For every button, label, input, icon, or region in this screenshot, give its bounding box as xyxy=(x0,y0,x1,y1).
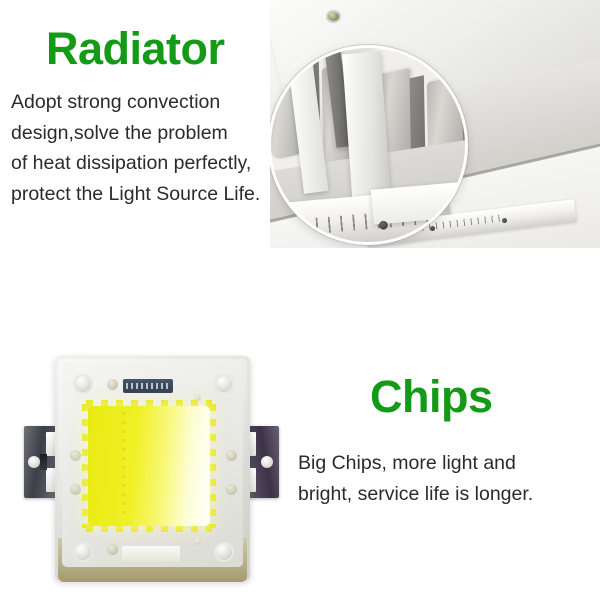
chip-bottom-slot xyxy=(122,546,180,562)
chip-vent-hole xyxy=(107,379,118,390)
chip-vent-hole xyxy=(70,450,81,461)
caliper-rivet xyxy=(379,221,388,230)
terminal-screw-hole xyxy=(261,456,273,468)
chips-description: Big Chips, more light and bright, servic… xyxy=(298,448,598,509)
led-cob-chip-photo xyxy=(10,348,295,600)
chip-vent-hole xyxy=(107,544,118,555)
housing-screw xyxy=(328,12,339,21)
chip-vent-hole xyxy=(226,450,237,461)
caliper-rivet xyxy=(295,231,304,240)
chip-pin-hole xyxy=(194,538,201,545)
caliper-rivet xyxy=(502,218,507,223)
phosphor-emitting-area xyxy=(88,406,210,526)
chip-vent-hole xyxy=(70,484,81,495)
product-feature-page: Radiator Adopt strong convection design,… xyxy=(0,0,600,600)
chip-vent-hole xyxy=(226,484,237,495)
chip-mounting-hole xyxy=(73,542,93,562)
chip-marking-label xyxy=(123,379,173,393)
terminal-bar xyxy=(40,454,47,470)
chip-mounting-hole xyxy=(73,374,93,394)
radiator-description: Adopt strong convection design,solve the… xyxy=(11,87,301,209)
chip-mounting-hole xyxy=(214,542,234,562)
led-floodlight-heatsink-photo xyxy=(270,0,600,248)
radiator-heading: Radiator xyxy=(46,26,225,71)
terminal-screw-hole xyxy=(28,456,40,468)
chip-mounting-hole xyxy=(214,374,234,394)
chips-heading: Chips xyxy=(370,374,493,419)
